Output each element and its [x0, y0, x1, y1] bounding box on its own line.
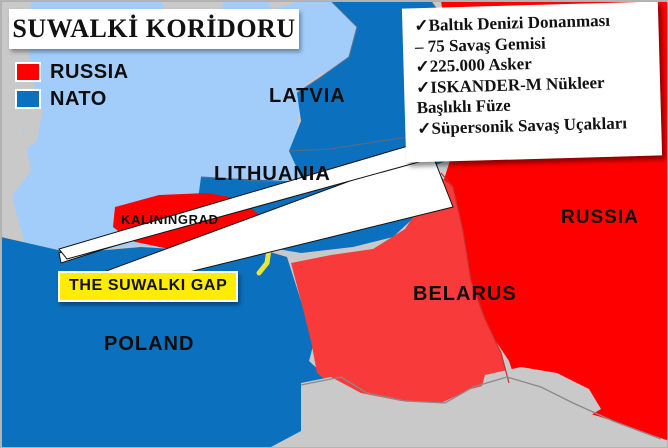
callout-item: ✓ISKANDER-M Nükleer Başlıklı Füze [416, 71, 651, 119]
callout-box: ✓Baltık Denizi Donanması – 75 Savaş Gemi… [402, 1, 662, 162]
legend-label-nato: NATO [50, 89, 107, 109]
suwalki-corridor-infographic: LATVIA LITHUANIA RUSSIA BELARUS POLAND K… [0, 0, 668, 448]
suwalki-gap-tag: THE SUWALKI GAP [58, 271, 238, 302]
callout-list: ✓Baltık Denizi Donanması – 75 Savaş Gemi… [414, 10, 651, 140]
legend-swatch-nato [15, 89, 41, 109]
legend-label-russia: RUSSIA [50, 62, 129, 82]
legend-item-russia: RUSSIA [15, 58, 129, 85]
legend-swatch-russia [15, 62, 41, 82]
map-legend: RUSSIA NATO [15, 58, 129, 112]
title-plate: SUWALKİ KORİDORU [9, 9, 299, 49]
suwalki-gap-tag-label: THE SUWALKI GAP [69, 277, 227, 294]
legend-item-nato: NATO [15, 85, 129, 112]
page-title: SUWALKİ KORİDORU [12, 14, 295, 44]
